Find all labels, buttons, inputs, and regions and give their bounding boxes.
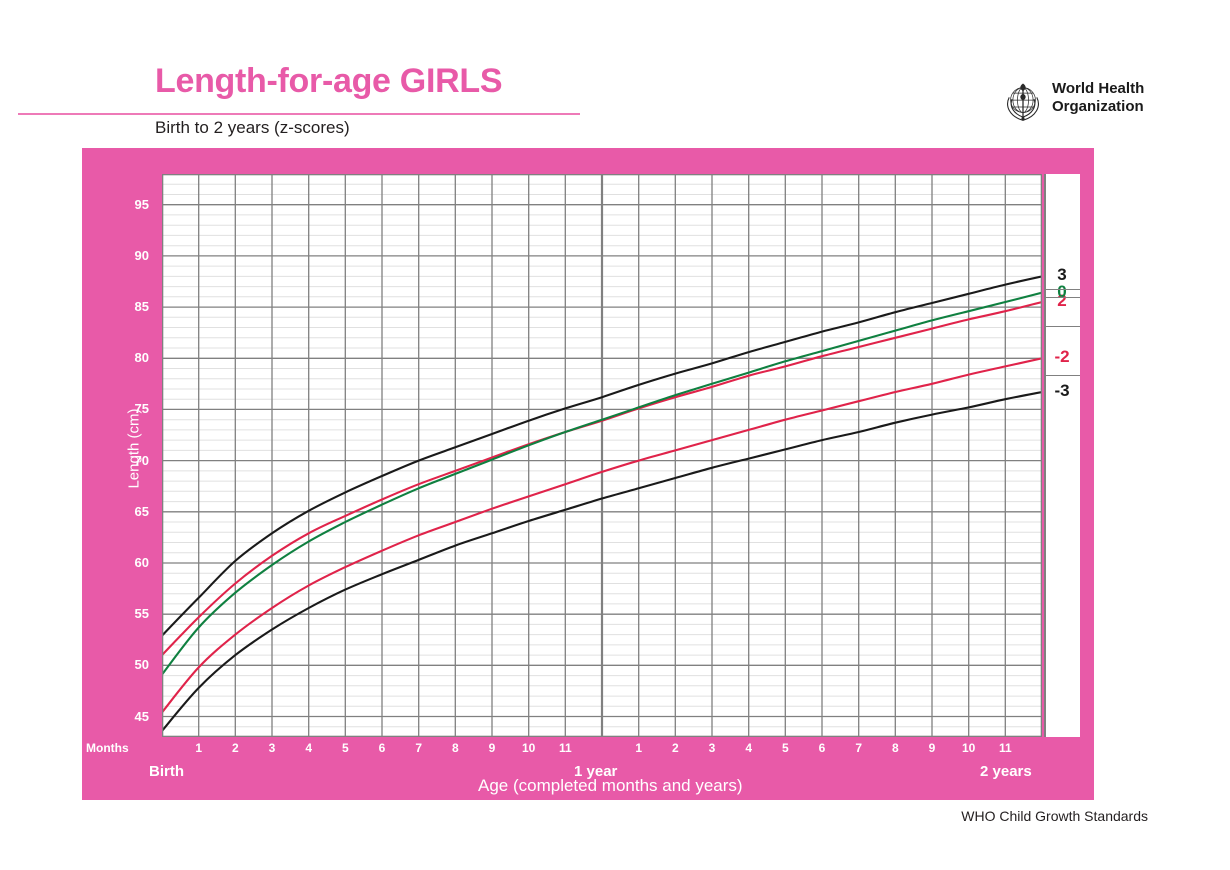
z-label-divider: [1044, 375, 1080, 376]
gridlines-vertical: [199, 174, 1006, 737]
x-tick-label: 6: [367, 741, 397, 755]
y-axis-title: Length (cm): [126, 379, 143, 519]
x-axis-major-label: 2 years: [980, 763, 1032, 780]
growth-curves-svg: [162, 174, 1042, 737]
x-axis-major-label: Birth: [149, 763, 184, 780]
x-tick-label: 9: [477, 741, 507, 755]
who-wordmark: World Health Organization: [1052, 80, 1144, 115]
x-tick-label: 7: [404, 741, 434, 755]
who-emblem-icon: [1000, 78, 1046, 124]
footer-note: WHO Child Growth Standards: [0, 808, 1148, 824]
plot-area: [162, 174, 1042, 737]
z-score-label: -2: [1044, 347, 1080, 367]
x-tick-label: 8: [880, 741, 910, 755]
x-tick-label: 2: [220, 741, 250, 755]
y-tick-label: 70: [109, 453, 149, 468]
who-wordmark-line1: World Health: [1052, 80, 1144, 98]
z-score-label: 0: [1044, 282, 1080, 302]
x-tick-label: 11: [990, 741, 1020, 755]
y-tick-label: 95: [109, 197, 149, 212]
z-score-label: -3: [1044, 381, 1080, 401]
y-tick-label: 80: [109, 350, 149, 365]
x-tick-label: 2: [660, 741, 690, 755]
page-title: Length-for-age GIRLS: [155, 62, 502, 101]
x-tick-label: 8: [440, 741, 470, 755]
z-score-label-strip: 320-2-3: [1044, 174, 1080, 737]
x-tick-label: 4: [734, 741, 764, 755]
x-axis-units-label: Months: [86, 741, 129, 755]
y-tick-label: 85: [109, 299, 149, 314]
x-tick-label: 3: [257, 741, 287, 755]
y-tick-label: 55: [109, 606, 149, 621]
z-strip-border: [1044, 174, 1046, 737]
x-axis-title: Age (completed months and years): [478, 776, 743, 796]
x-tick-label: 1: [184, 741, 214, 755]
x-tick-label: 11: [550, 741, 580, 755]
z-label-divider: [1044, 297, 1080, 298]
who-wordmark-line2: Organization: [1052, 98, 1144, 116]
x-tick-label: 1: [624, 741, 654, 755]
chart-panel: Length (cm) 4550556065707580859095 45505…: [82, 148, 1094, 800]
y-tick-label: 90: [109, 248, 149, 263]
page-subtitle: Birth to 2 years (z-scores): [155, 118, 350, 138]
y-tick-label: 65: [109, 504, 149, 519]
z-label-divider: [1044, 326, 1080, 327]
x-tick-label: 6: [807, 741, 837, 755]
y-tick-label: 45: [109, 709, 149, 724]
x-tick-label: 9: [917, 741, 947, 755]
who-logo: World Health Organization: [1000, 78, 1170, 126]
x-tick-label: 5: [770, 741, 800, 755]
y-tick-label: 75: [109, 401, 149, 416]
z-label-divider: [1044, 289, 1080, 290]
title-divider: [18, 113, 580, 115]
x-tick-label: 10: [954, 741, 984, 755]
x-tick-label: 5: [330, 741, 360, 755]
x-tick-label: 7: [844, 741, 874, 755]
x-tick-label: 4: [294, 741, 324, 755]
y-tick-label: 50: [109, 657, 149, 672]
chart-header: Length-for-age GIRLS Birth to 2 years (z…: [0, 0, 1230, 148]
y-tick-label: 60: [109, 555, 149, 570]
x-tick-label: 3: [697, 741, 727, 755]
x-tick-label: 10: [514, 741, 544, 755]
